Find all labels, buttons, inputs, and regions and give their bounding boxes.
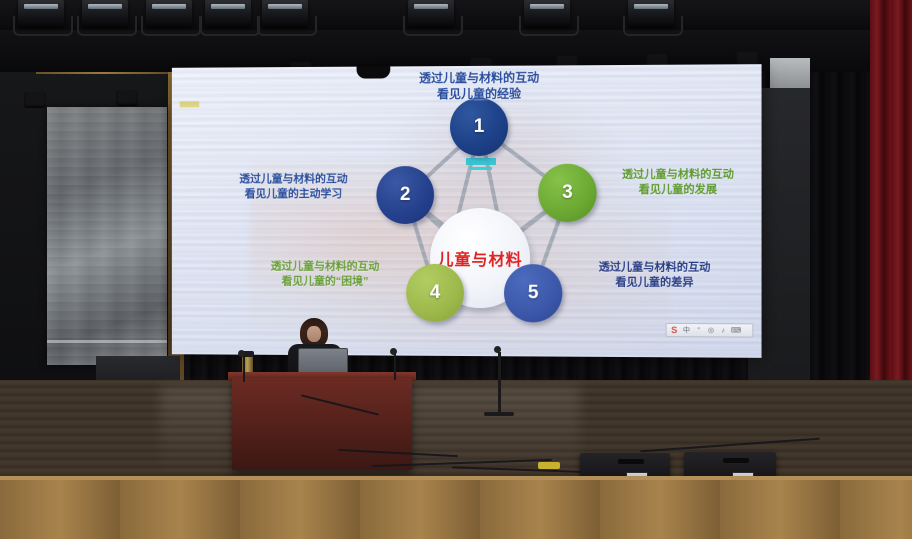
label-node-4: 透过儿童与材料的互动 看见儿童的“困境” bbox=[246, 260, 404, 290]
node-5: 5 bbox=[504, 264, 562, 322]
cable-tape-marker bbox=[538, 462, 560, 469]
projection-screen: 儿童与材料 1 2 3 4 5 透过儿童与材料的互动 看见儿童的经验 透过儿童与… bbox=[172, 64, 762, 358]
stage-light-icon bbox=[408, 0, 454, 26]
node-3-number: 3 bbox=[562, 182, 573, 204]
label-node-3-line2: 看见儿童的发展 bbox=[597, 182, 760, 197]
node-5-number: 5 bbox=[528, 282, 539, 304]
voice-input-icon[interactable]: ♪ bbox=[719, 326, 728, 335]
label-node-2: 透过儿童与材料的互动 看见儿童的主动学习 bbox=[215, 172, 373, 202]
label-node-4-line2: 看见儿童的“困境” bbox=[246, 274, 404, 289]
label-node-5-line2: 看见儿童的差异 bbox=[568, 275, 741, 290]
center-node-label: 儿童与材料 bbox=[438, 246, 523, 270]
acoustic-panel bbox=[47, 107, 167, 365]
node-4: 4 bbox=[406, 264, 464, 322]
node-1: 1 bbox=[450, 98, 508, 156]
monitor-handle-icon bbox=[618, 459, 644, 464]
label-node-5-line1: 透过儿童与材料的互动 bbox=[568, 260, 741, 275]
label-node-1: 透过儿童与材料的互动 看见儿童的经验 bbox=[364, 69, 594, 103]
node-4-number: 4 bbox=[430, 282, 441, 304]
label-node-1-line2: 看见儿童的经验 bbox=[364, 85, 594, 102]
ime-toolbar[interactable]: S 中 ° ◎ ♪ ⌨ bbox=[666, 323, 754, 338]
label-node-1-line1: 透过儿童与材料的互动 bbox=[364, 69, 594, 87]
accent-bar-icon bbox=[466, 158, 496, 165]
stage-light-icon bbox=[524, 0, 570, 26]
stage-apron bbox=[0, 480, 912, 539]
mic-head-right bbox=[390, 348, 397, 355]
label-node-3: 透过儿童与材料的互动 看见儿童的发展 bbox=[597, 167, 760, 197]
stage-light-icon bbox=[82, 0, 128, 26]
keyboard-icon[interactable]: ⌨ bbox=[731, 326, 740, 335]
right-wall-strip bbox=[770, 58, 810, 90]
label-node-3-line1: 透过儿童与材料的互动 bbox=[597, 167, 760, 182]
stage-light-icon bbox=[262, 0, 308, 26]
mic-stand-right bbox=[394, 352, 396, 380]
stage-light-icon bbox=[146, 0, 192, 26]
stage-light-icon bbox=[18, 0, 64, 26]
node-1-number: 1 bbox=[474, 116, 485, 138]
mic-stand-floor bbox=[498, 352, 501, 414]
accent-bar-icon-small bbox=[470, 167, 492, 170]
stage-light-icon bbox=[205, 0, 251, 26]
sogou-logo-icon[interactable]: S bbox=[670, 326, 679, 335]
truss-clamp-icon bbox=[24, 92, 46, 108]
label-node-2-line1: 透过儿童与材料的互动 bbox=[215, 172, 373, 187]
stage-light-icon bbox=[628, 0, 674, 26]
screen-top-notch bbox=[357, 65, 391, 78]
monitor-handle-icon bbox=[723, 458, 749, 463]
label-node-5: 透过儿童与材料的互动 看见儿童的差异 bbox=[568, 260, 741, 290]
podium bbox=[232, 378, 412, 470]
mic-head-floor bbox=[494, 346, 501, 353]
label-node-4-line1: 透过儿童与材料的互动 bbox=[246, 260, 404, 275]
label-node-2-line2: 看见儿童的主动学习 bbox=[215, 187, 373, 202]
node-2-number: 2 bbox=[400, 184, 411, 206]
chinese-mode-icon[interactable]: 中 bbox=[682, 326, 691, 335]
mic-head-left bbox=[238, 350, 245, 357]
fullwidth-icon[interactable]: ° bbox=[694, 326, 703, 335]
node-3: 3 bbox=[538, 164, 596, 222]
truss-clamp-icon bbox=[116, 90, 138, 106]
node-2: 2 bbox=[376, 166, 434, 224]
presenter-face bbox=[307, 326, 321, 342]
emoji-icon[interactable]: ◎ bbox=[706, 326, 715, 335]
mic-stand-base bbox=[484, 412, 514, 416]
stage-scene: 儿童与材料 1 2 3 4 5 透过儿童与材料的互动 看见儿童的经验 透过儿童与… bbox=[0, 0, 912, 539]
